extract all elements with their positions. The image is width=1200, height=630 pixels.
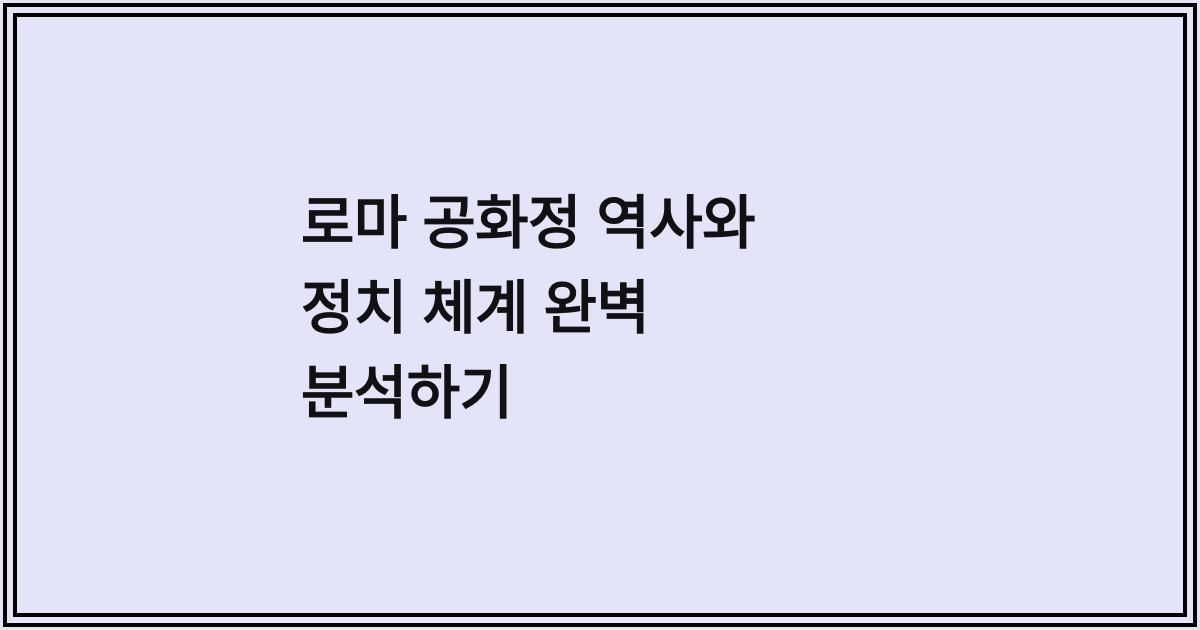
headline-block: 로마 공화정 역사와 정치 체계 완벽 분석하기 bbox=[17, 181, 1183, 450]
card-outer-border: 로마 공화정 역사와 정치 체계 완벽 분석하기 bbox=[3, 3, 1197, 627]
title-card: 로마 공화정 역사와 정치 체계 완벽 분석하기 bbox=[0, 0, 1200, 630]
card-inner-border: 로마 공화정 역사와 정치 체계 완벽 분석하기 bbox=[13, 13, 1187, 617]
page-title: 로마 공화정 역사와 정치 체계 완벽 분석하기 bbox=[301, 181, 1143, 436]
